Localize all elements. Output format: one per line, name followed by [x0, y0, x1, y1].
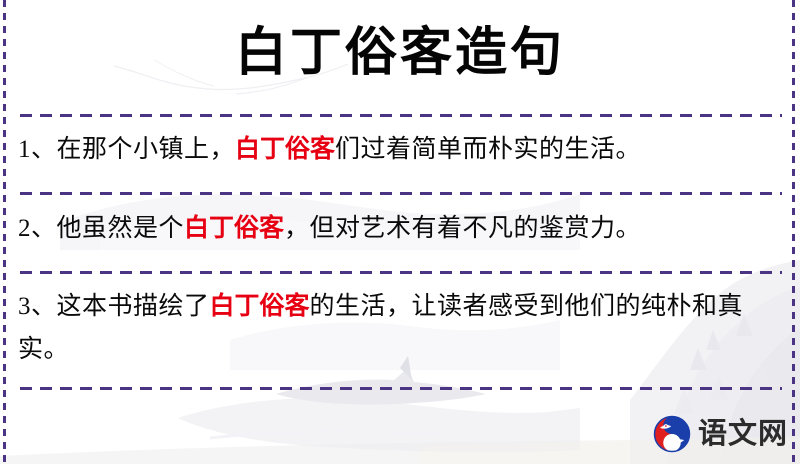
sentence-row-3: 3、这本书描绘了白丁俗客的生活，让读者感受到他们的纯朴和真实。 — [18, 285, 778, 371]
sentence-card-page: 白丁俗客造句 1、在那个小镇上，白丁俗客们过着简单而朴实的生活。 2、他虽然是个… — [0, 0, 800, 464]
dashed-separator-above-sentence-2 — [20, 192, 782, 195]
dashed-separator-above-sentence-1 — [20, 114, 782, 117]
sentence-number-1: 1、 — [18, 136, 57, 163]
dashed-separator-below-sentence-3 — [20, 387, 782, 390]
sentence-row-1: 1、在那个小镇上，白丁俗客们过着简单而朴实的生活。 — [18, 128, 778, 171]
sentence-text-after-1: 们过着简单而朴实的生活。 — [335, 136, 641, 163]
sentence-text-after-2: ，但对艺术有着不凡的鉴赏力。 — [284, 215, 641, 242]
page-title: 白丁俗客造句 — [0, 17, 800, 91]
sentence-number-2: 2、 — [18, 215, 57, 242]
sentence-text-before-3: 这本书描绘了 — [57, 293, 210, 320]
idiom-highlight-2: 白丁俗客 — [184, 215, 284, 242]
sentence-text-before-2: 他虽然是个 — [57, 215, 185, 242]
dashed-separator-above-sentence-3 — [20, 271, 782, 274]
sentence-text-before-1: 在那个小镇上， — [57, 136, 236, 163]
idiom-highlight-1: 白丁俗客 — [235, 136, 335, 163]
yin-yang-fish-emblem-icon — [653, 415, 691, 453]
sentence-number-3: 3、 — [18, 293, 57, 320]
sentence-row-2: 2、他虽然是个白丁俗客，但对艺术有着不凡的鉴赏力。 — [18, 207, 778, 250]
site-logo-text: 语文网 — [698, 420, 788, 449]
idiom-highlight-3: 白丁俗客 — [210, 293, 310, 320]
site-logo-watermark: 语文网 — [653, 414, 788, 454]
